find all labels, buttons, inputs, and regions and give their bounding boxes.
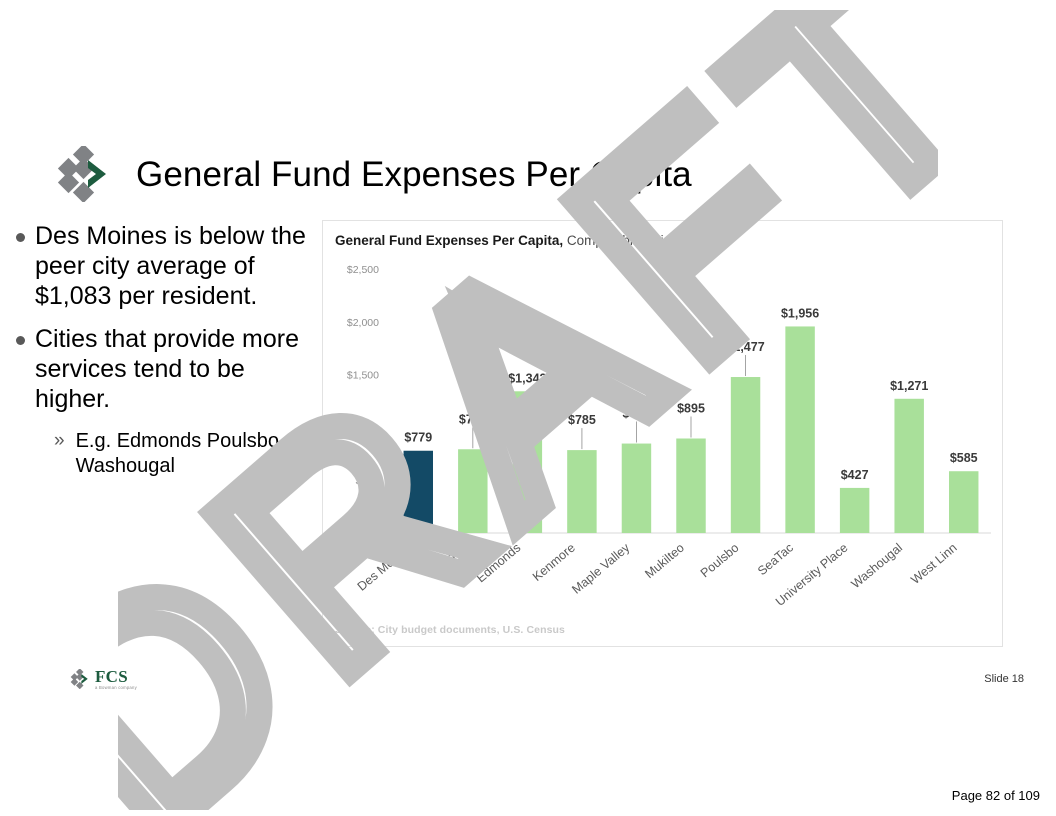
bar	[731, 377, 760, 533]
bar-value-label: $1,477	[726, 340, 764, 354]
bullet-dot-icon	[16, 233, 25, 242]
bar-value-label: $585	[950, 451, 978, 465]
y-axis-tick-label: $1,500	[347, 370, 379, 382]
bullet-text: Des Moines is below the peer city averag…	[35, 222, 320, 311]
bar	[894, 399, 923, 533]
fcs-diamond-logo-icon	[56, 146, 118, 202]
bullet-list: Des Moines is below the peer city averag…	[8, 222, 320, 479]
x-axis-category-label: SeaTac	[755, 541, 796, 579]
page-number: Page 82 of 109	[952, 788, 1040, 803]
page-title: General Fund Expenses Per Capita	[136, 157, 692, 192]
bar	[676, 438, 705, 533]
y-axis-tick-label: $2,000	[347, 317, 379, 329]
bar	[404, 451, 433, 533]
bar-value-label: $427	[841, 468, 869, 482]
guillemet-icon: »	[54, 429, 65, 453]
bar	[949, 471, 978, 533]
fcs-tagline: a Bowman company	[95, 686, 137, 690]
fcs-wordmark: FCS a Bowman company	[95, 668, 137, 690]
bar	[785, 326, 814, 533]
bar-value-label: $847	[623, 407, 651, 421]
x-axis-category-label: Edmonds	[474, 541, 523, 586]
bar-value-label: $785	[568, 413, 596, 427]
y-axis-tick-label: $500	[356, 475, 380, 487]
x-axis-category-label: Mukilteo	[642, 541, 687, 582]
bar-value-label: $793	[459, 412, 487, 426]
bar-value-label: $1,342	[508, 371, 546, 385]
bar-value-label: $1,956	[781, 306, 819, 320]
bullet-dot-icon	[16, 336, 25, 345]
x-axis-category-label: Poulsbo	[698, 541, 742, 581]
x-axis-category-label: Des Moines	[355, 541, 415, 594]
fcs-brand-name: FCS	[95, 668, 137, 685]
list-item: Des Moines is below the peer city averag…	[8, 222, 320, 311]
bar-chart-plot: $0$500$1,000$1,500$2,000$2,500$779Des Mo…	[323, 221, 1002, 646]
fcs-footer-logo: FCS a Bowman company	[70, 668, 137, 690]
bar	[622, 444, 651, 533]
bar	[840, 488, 869, 533]
y-axis-tick-label: $2,500	[347, 264, 379, 276]
chart-panel: General Fund Expenses Per Capita, Compar…	[322, 220, 1003, 647]
slide-header: General Fund Expenses Per Capita	[56, 146, 692, 202]
y-axis-tick-label: $0	[367, 528, 379, 540]
x-axis-category-label: West Linn	[908, 541, 959, 587]
bar-value-label: $895	[677, 401, 705, 415]
bar-value-label: $779	[404, 431, 432, 445]
x-axis-category-label: Maple Valley	[569, 540, 633, 597]
bullet-text: Cities that provide more services tend t…	[35, 325, 320, 414]
chart-source-note: Source: City budget documents, U.S. Cens…	[335, 624, 565, 636]
sub-bullet-text: E.g. Edmonds Poulsbo Washougal	[76, 429, 320, 480]
list-item: Cities that provide more services tend t…	[8, 325, 320, 414]
bar	[458, 449, 487, 533]
x-axis-category-label: Washougal	[849, 541, 906, 592]
fcs-diamond-small-icon	[70, 669, 92, 689]
bar-value-label: $1,271	[890, 379, 928, 393]
slide-number: Slide 18	[984, 673, 1024, 685]
bar	[513, 391, 542, 533]
y-axis-tick-label: $1,000	[347, 422, 379, 434]
x-axis-category-label: Burien	[432, 541, 469, 575]
sub-list-item: » E.g. Edmonds Poulsbo Washougal	[54, 429, 320, 480]
x-axis-category-label: Kenmore	[530, 541, 578, 584]
slide-canvas: General Fund Expenses Per Capita Des Moi…	[0, 0, 1056, 816]
bar	[567, 450, 596, 533]
